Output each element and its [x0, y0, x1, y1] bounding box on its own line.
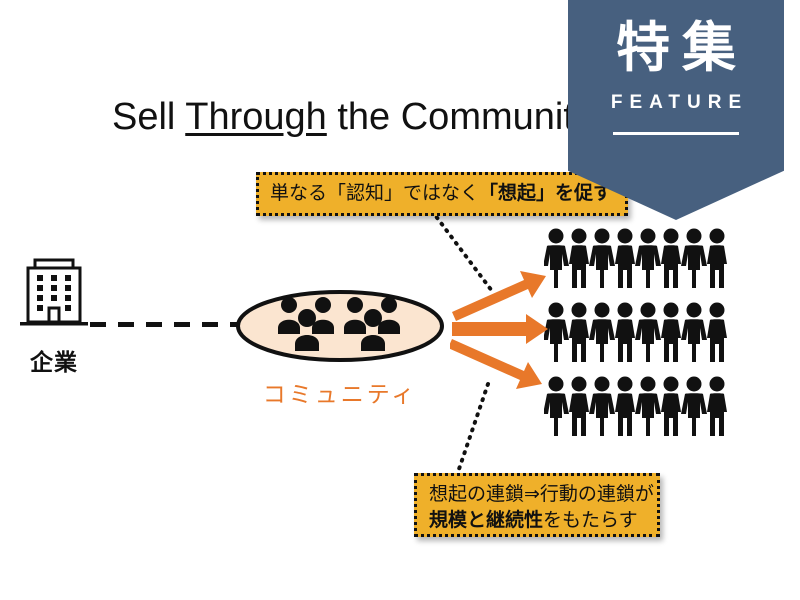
title-prefix: Sell [112, 96, 185, 138]
title-underlined-word: Through [185, 96, 327, 138]
callout-top-bold: 「想起」を促す [479, 183, 612, 204]
callout-top: 単なる「認知」ではなく「想起」を促す [256, 172, 628, 216]
community-ellipse-icon [234, 286, 446, 364]
company-group: 企業 [6, 258, 102, 377]
feature-badge-latin: FEATURE [568, 92, 784, 114]
people-row-3-icon [544, 376, 730, 438]
arrow-up-right [452, 271, 546, 321]
dashed-link-line [90, 322, 242, 327]
feature-badge-kanji: 特集 [568, 18, 784, 78]
people-row-2-icon [544, 302, 730, 364]
arrow-down-right [450, 339, 542, 389]
callout-bottom-line2: 規模と継続性をもたらす [429, 508, 657, 534]
people-row [544, 228, 730, 290]
community-label: コミュニティ [234, 375, 446, 409]
callout-top-normal: 単なる「認知」ではなく [270, 183, 479, 204]
office-building-icon [15, 258, 93, 332]
callout-bottom-line1: 想起の連鎖⇒行動の連鎖が [429, 482, 657, 508]
callout-top-text: 単なる「認知」ではなく「想起」を促す [270, 182, 612, 206]
arrow-group [450, 268, 554, 390]
callout-bottom-bold: 規模と継続性 [429, 510, 543, 531]
title-suffix: the Communit [327, 96, 574, 138]
people-grid [544, 228, 730, 438]
callout-bottom-normal: をもたらす [543, 510, 638, 531]
company-label: 企業 [6, 343, 102, 377]
people-row-1-icon [544, 228, 730, 290]
callout-bottom: 想起の連鎖⇒行動の連鎖が 規模と継続性をもたらす [414, 473, 660, 537]
people-row [544, 302, 730, 364]
arrow-right [452, 314, 548, 344]
feature-badge-rule [613, 132, 739, 135]
connector-line-bottom [440, 378, 560, 478]
people-row [544, 376, 730, 438]
community-group: コミュニティ [234, 286, 446, 409]
page-title: Sell Through the Communit [112, 94, 574, 140]
slide-canvas: Sell Through the Communit [0, 0, 800, 600]
